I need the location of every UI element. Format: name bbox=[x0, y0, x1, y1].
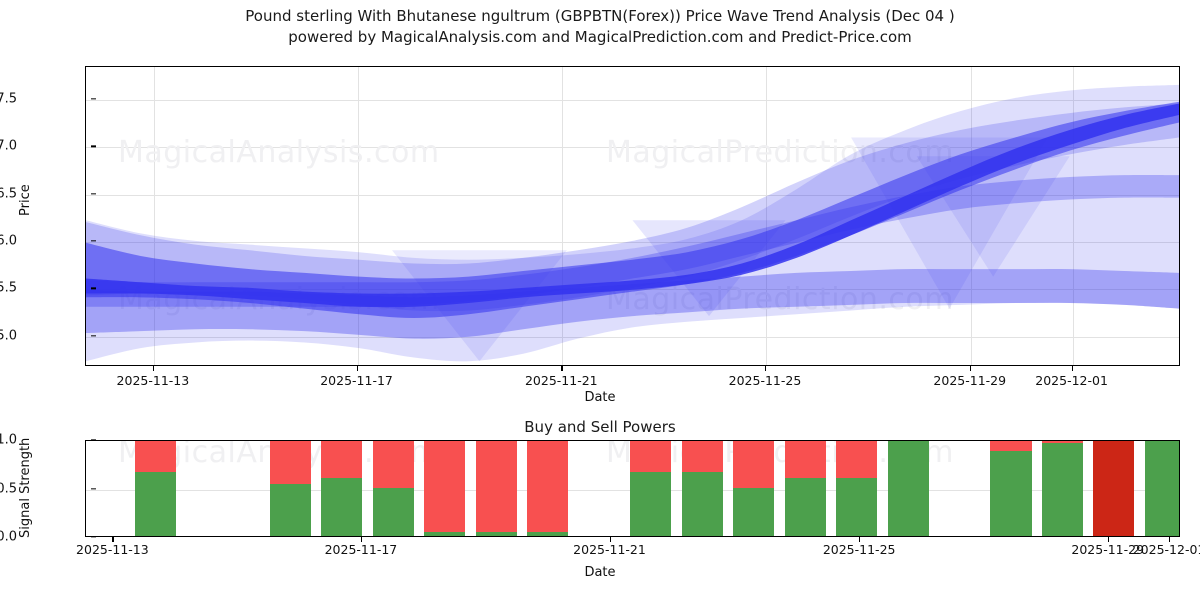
buy-power-segment bbox=[424, 532, 465, 536]
buy-power-segment bbox=[135, 472, 176, 536]
price-x-tick-mark bbox=[1072, 366, 1073, 371]
signal-x-tick-label: 2025-12-01 bbox=[1133, 542, 1200, 557]
signal-y-axis-label: Signal Strength bbox=[18, 438, 33, 538]
price-y-tick-label: 117.5 bbox=[0, 92, 17, 107]
signal-bar bbox=[836, 441, 877, 536]
price-x-tick-label: 2025-11-21 bbox=[525, 373, 598, 388]
buy-power-segment bbox=[1145, 441, 1179, 536]
price-y-axis-label: Price bbox=[18, 184, 33, 216]
sell-power-segment bbox=[836, 441, 877, 478]
price-y-tick-mark bbox=[91, 288, 96, 289]
signal-y-tick-label: 0.0 bbox=[0, 530, 17, 545]
signal-y-tick-mark bbox=[91, 488, 96, 489]
price-x-axis-label: Date bbox=[0, 390, 1200, 405]
signal-y-tick-label: 0.5 bbox=[0, 481, 17, 496]
signal-bar bbox=[135, 441, 176, 536]
price-y-tick-label: 115.5 bbox=[0, 281, 17, 296]
buy-power-segment bbox=[527, 532, 568, 536]
buy-power-segment bbox=[321, 478, 362, 536]
signal-bar bbox=[990, 441, 1031, 536]
sell-power-segment bbox=[785, 441, 826, 478]
signal-x-tick-label: 2025-11-13 bbox=[76, 542, 149, 557]
buy-power-segment bbox=[888, 441, 929, 536]
signal-y-tick-label: 1.0 bbox=[0, 433, 17, 448]
signal-bar bbox=[527, 441, 568, 536]
price-y-tick-label: 117.0 bbox=[0, 139, 17, 154]
price-y-tick-label: 116.0 bbox=[0, 234, 17, 249]
sell-power-segment bbox=[476, 441, 517, 532]
price-y-tick-mark bbox=[91, 335, 96, 336]
signal-y-tick-mark bbox=[91, 439, 96, 440]
price-y-tick-mark bbox=[91, 240, 96, 241]
page-title-line-2: powered by MagicalAnalysis.com and Magic… bbox=[0, 27, 1200, 48]
signal-bar bbox=[1145, 441, 1179, 536]
signal-bar bbox=[682, 441, 723, 536]
buy-power-segment bbox=[733, 488, 774, 536]
price-x-tick-label: 2025-11-25 bbox=[729, 373, 802, 388]
price-x-tick-mark bbox=[153, 366, 154, 371]
buy-power-segment bbox=[990, 451, 1031, 536]
price-x-tick-label: 2025-11-17 bbox=[320, 373, 393, 388]
sell-power-segment bbox=[733, 441, 774, 488]
signal-bar bbox=[1042, 441, 1083, 536]
sell-power-segment bbox=[424, 441, 465, 532]
sell-power-segment bbox=[321, 441, 362, 478]
signal-x-tick-label: 2025-11-21 bbox=[573, 542, 646, 557]
page-title-line-1: Pound sterling With Bhutanese ngultrum (… bbox=[0, 6, 1200, 27]
sell-power-segment bbox=[1093, 441, 1134, 536]
price-chart-panel: MagicalAnalysis.com MagicalPrediction.co… bbox=[85, 66, 1180, 366]
signal-x-tick-label: 2025-11-17 bbox=[325, 542, 398, 557]
price-wave-bands bbox=[86, 67, 1179, 365]
price-x-tick-mark bbox=[970, 366, 971, 371]
signal-bar bbox=[373, 441, 414, 536]
sell-power-segment bbox=[135, 441, 176, 472]
price-y-tick-label: 115.0 bbox=[0, 328, 17, 343]
price-y-tick-label: 116.5 bbox=[0, 186, 17, 201]
sell-power-segment bbox=[373, 441, 414, 488]
buy-power-segment bbox=[785, 478, 826, 536]
buy-power-segment bbox=[270, 484, 311, 536]
price-y-tick-mark bbox=[91, 98, 96, 99]
price-x-tick-label: 2025-12-01 bbox=[1035, 373, 1108, 388]
price-x-tick-label: 2025-11-13 bbox=[117, 373, 190, 388]
signal-bar bbox=[733, 441, 774, 536]
sell-power-segment bbox=[682, 441, 723, 472]
signal-bar bbox=[270, 441, 311, 536]
buy-power-segment bbox=[476, 532, 517, 536]
chart-title-block: Pound sterling With Bhutanese ngultrum (… bbox=[0, 6, 1200, 48]
price-x-tick-mark bbox=[765, 366, 766, 371]
sell-power-segment bbox=[990, 441, 1031, 451]
signal-bar bbox=[321, 441, 362, 536]
buy-power-segment bbox=[630, 472, 671, 536]
price-y-tick-mark bbox=[91, 193, 96, 194]
signal-bar bbox=[1093, 441, 1134, 536]
signal-x-axis-label: Date bbox=[0, 565, 1200, 580]
price-x-tick-label: 2025-11-29 bbox=[933, 373, 1006, 388]
buy-power-segment bbox=[836, 478, 877, 536]
signal-bar bbox=[424, 441, 465, 536]
buy-power-segment bbox=[682, 472, 723, 536]
signal-bar bbox=[785, 441, 826, 536]
signal-chart-panel: MagicalAnalysis.com MagicalPrediction.co… bbox=[85, 440, 1180, 537]
signal-bar bbox=[888, 441, 929, 536]
signal-y-tick-mark bbox=[91, 536, 96, 537]
signal-bar bbox=[630, 441, 671, 536]
price-x-tick-mark bbox=[561, 366, 562, 371]
sell-power-segment bbox=[630, 441, 671, 472]
signal-bar bbox=[476, 441, 517, 536]
price-y-tick-mark bbox=[91, 146, 96, 147]
sell-power-segment bbox=[270, 441, 311, 484]
buy-power-segment bbox=[373, 488, 414, 536]
signal-chart-title: Buy and Sell Powers bbox=[0, 418, 1200, 436]
signal-x-tick-label: 2025-11-25 bbox=[823, 542, 896, 557]
price-x-tick-mark bbox=[357, 366, 358, 371]
buy-power-segment bbox=[1042, 443, 1083, 536]
sell-power-segment bbox=[527, 441, 568, 532]
